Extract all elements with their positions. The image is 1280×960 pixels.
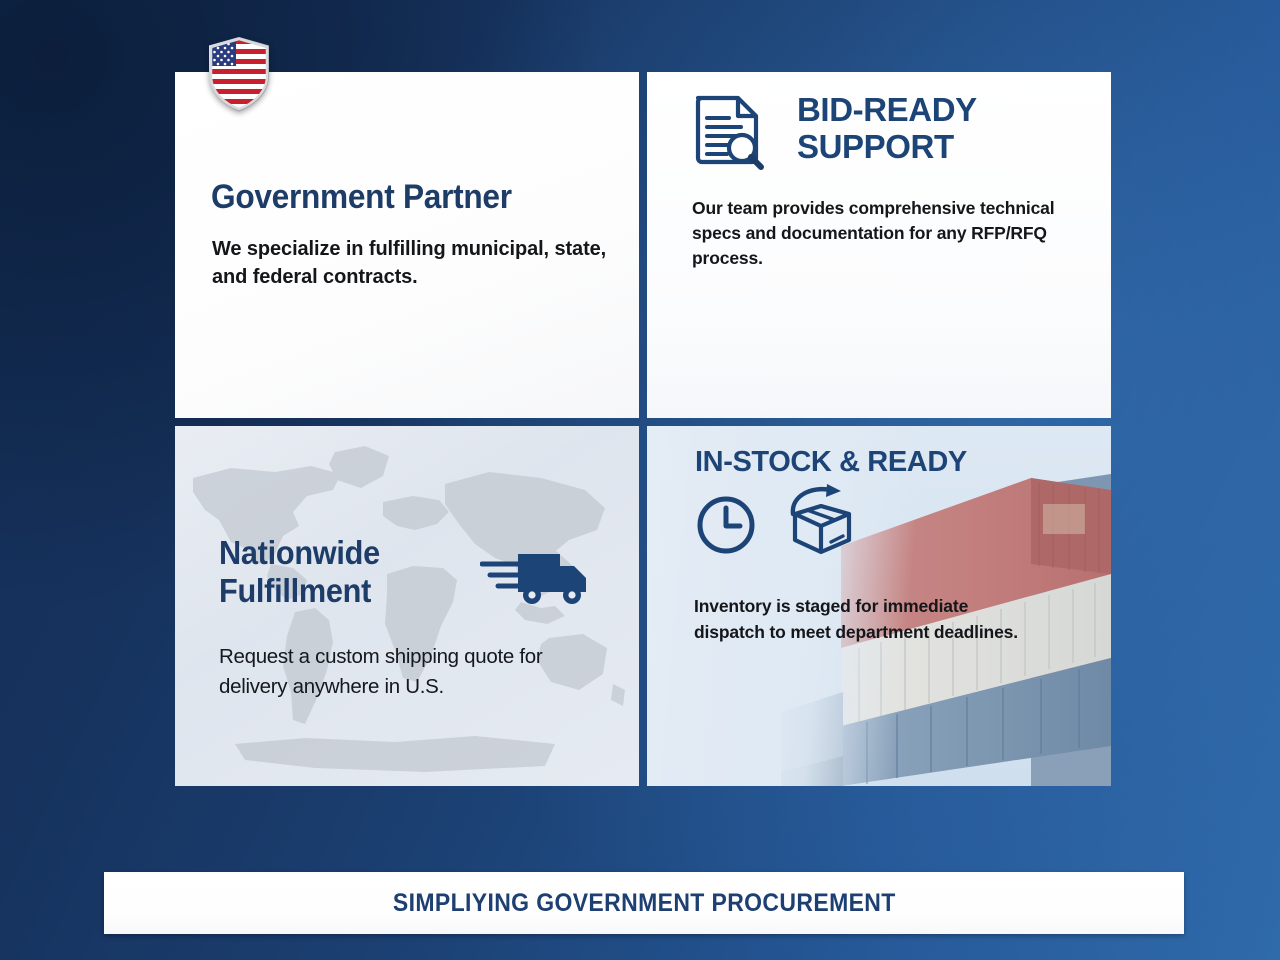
card-government-partner[interactable]: Government Partner We specialize in fulf…	[175, 72, 639, 418]
card-body-government-partner: We specialize in fulfilling municipal, s…	[212, 235, 612, 292]
card-body-bid-ready-support: Our team provides comprehensive technica…	[692, 196, 1062, 272]
card-title-line2: Fulfillment	[219, 572, 380, 610]
card-title-nationwide-fulfillment: Nationwide Fulfillment	[219, 534, 380, 609]
watermark-artifact	[421, 304, 425, 320]
card-nationwide-fulfillment[interactable]: Nationwide Fulfillment Request a custom …	[175, 426, 639, 786]
card-title-in-stock-and-ready: IN-STOCK & READY	[695, 446, 967, 479]
clock-icon	[695, 494, 757, 556]
us-flag-shield-icon	[207, 36, 271, 112]
card-bid-ready-support[interactable]: BID-READY SUPPORT Our team provides comp…	[647, 72, 1111, 418]
card-title-line2: SUPPORT	[797, 129, 977, 166]
card-title-government-partner: Government Partner	[211, 178, 512, 217]
bottom-banner[interactable]: SIMPLIYING GOVERNMENT PROCUREMENT	[104, 872, 1184, 934]
feature-card-grid: Government Partner We specialize in fulf…	[175, 72, 1107, 786]
document-search-icon	[693, 94, 765, 174]
card-in-stock-and-ready[interactable]: IN-STOCK & READY Inventory is staged for…	[647, 426, 1111, 786]
card-title-line1: Nationwide	[219, 534, 380, 572]
banner-text: SIMPLIYING GOVERNMENT PROCUREMENT	[393, 889, 896, 918]
card-title-bid-ready-support: BID-READY SUPPORT	[797, 92, 977, 166]
card-title-line1: BID-READY	[797, 92, 977, 129]
box-rotate-arrow-icon	[785, 484, 861, 558]
slide-stage: Government Partner We specialize in fulf…	[0, 0, 1280, 960]
card-body-in-stock-and-ready: Inventory is staged for immediate dispat…	[694, 594, 1039, 645]
card-body-nationwide-fulfillment: Request a custom shipping quote for deli…	[219, 642, 609, 701]
delivery-truck-icon	[480, 548, 590, 606]
